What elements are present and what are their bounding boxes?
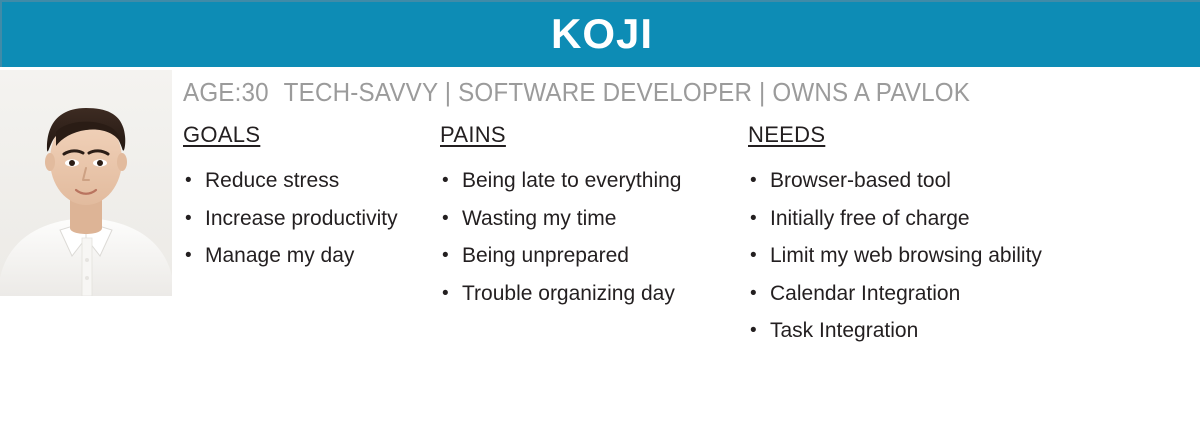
person-portrait-icon — [0, 70, 172, 296]
list-item: Task Integration — [748, 312, 1068, 350]
column-goals: GOALS Reduce stress Increase productivit… — [183, 122, 433, 275]
list-item: Browser-based tool — [748, 162, 1068, 200]
persona-photo — [0, 70, 172, 296]
persona-age: AGE:30 — [183, 77, 269, 107]
column-heading-needs: NEEDS — [748, 122, 825, 148]
needs-list: Browser-based tool Initially free of cha… — [748, 162, 1068, 350]
persona-header-bar: KOJI — [0, 0, 1200, 67]
list-item: Limit my web browsing ability — [748, 237, 1068, 275]
column-heading-pains: PAINS — [440, 122, 506, 148]
pains-list: Being late to everything Wasting my time… — [440, 162, 740, 312]
column-needs: NEEDS Browser-based tool Initially free … — [748, 122, 1068, 350]
list-item: Being late to everything — [440, 162, 740, 200]
list-item: Trouble organizing day — [440, 275, 740, 313]
list-item: Reduce stress — [183, 162, 433, 200]
list-item: Calendar Integration — [748, 275, 1068, 313]
list-item: Wasting my time — [440, 200, 740, 238]
goals-list: Reduce stress Increase productivity Mana… — [183, 162, 433, 275]
list-item: Initially free of charge — [748, 200, 1068, 238]
column-pains: PAINS Being late to everything Wasting m… — [440, 122, 740, 312]
persona-name-title: KOJI — [2, 2, 1200, 69]
persona-subtitle: AGE:30TECH-SAVVY | SOFTWARE DEVELOPER | … — [183, 70, 1122, 114]
persona-traits: TECH-SAVVY | SOFTWARE DEVELOPER | OWNS A… — [284, 77, 970, 107]
persona-content: AGE:30TECH-SAVVY | SOFTWARE DEVELOPER | … — [183, 70, 1193, 422]
list-item: Increase productivity — [183, 200, 433, 238]
persona-columns: GOALS Reduce stress Increase productivit… — [183, 122, 1193, 422]
column-heading-goals: GOALS — [183, 122, 260, 148]
list-item: Being unprepared — [440, 237, 740, 275]
list-item: Manage my day — [183, 237, 433, 275]
